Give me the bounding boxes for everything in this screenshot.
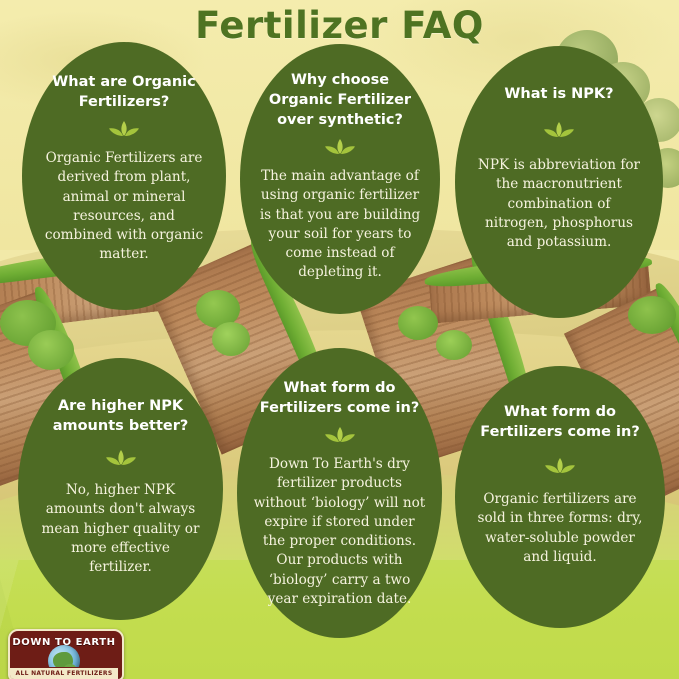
faq-question: Are higher NPK amounts better? [34,396,207,436]
leaf-icon [541,456,579,480]
faq-answer: No, higher NPK amounts don't always mean… [34,481,207,577]
leaf-icon [321,425,359,449]
faq-card: What form do Fertilizers come in? Organi… [455,366,665,628]
faq-card: Are higher NPK amounts better? No, highe… [18,358,223,620]
faq-answer: NPK is abbreviation for the macronutrien… [471,156,647,252]
leaf-icon [540,120,578,144]
shrub [398,306,438,340]
shrub [212,322,250,356]
logo-tagline: ALL NATURAL FERTILIZERS [10,668,118,679]
faq-card: What are Organic Fertilizers? Organic Fe… [22,42,226,310]
faq-question: What are Organic Fertilizers? [38,72,210,112]
leaf-icon [321,137,359,161]
leaf-icon [102,448,140,472]
shrub [628,296,676,334]
faq-question: What is NPK? [498,84,619,104]
faq-answer: Organic Fertilizers are derived from pla… [38,149,210,265]
leaf-icon [105,119,143,143]
faq-question: Why choose Organic Fertilizer over synth… [254,70,426,130]
faq-card: What is NPK? NPK is abbreviation for the… [455,46,663,318]
shrub [28,330,74,370]
faq-answer: The main advantage of using organic fert… [254,167,426,283]
page-title: Fertilizer FAQ [0,4,679,47]
infographic-poster: Fertilizer FAQ What are Organic Fertiliz… [0,0,679,679]
brand-logo: DOWN TO EARTH ALL NATURAL FERTILIZERS [8,629,124,679]
faq-card: What form do Fertilizers come in? Down T… [237,348,442,638]
faq-card: Why choose Organic Fertilizer over synth… [240,44,440,314]
logo-banner: ALL NATURAL FERTILIZERS [10,667,118,679]
faq-question: What form do Fertilizers come in? [471,402,649,442]
faq-question: What form do Fertilizers come in? [249,378,430,418]
faq-answer: Organic fertilizers are sold in three fo… [471,490,649,567]
shrub [436,330,472,360]
faq-answer: Down To Earth's dry fertilizer products … [249,455,430,609]
